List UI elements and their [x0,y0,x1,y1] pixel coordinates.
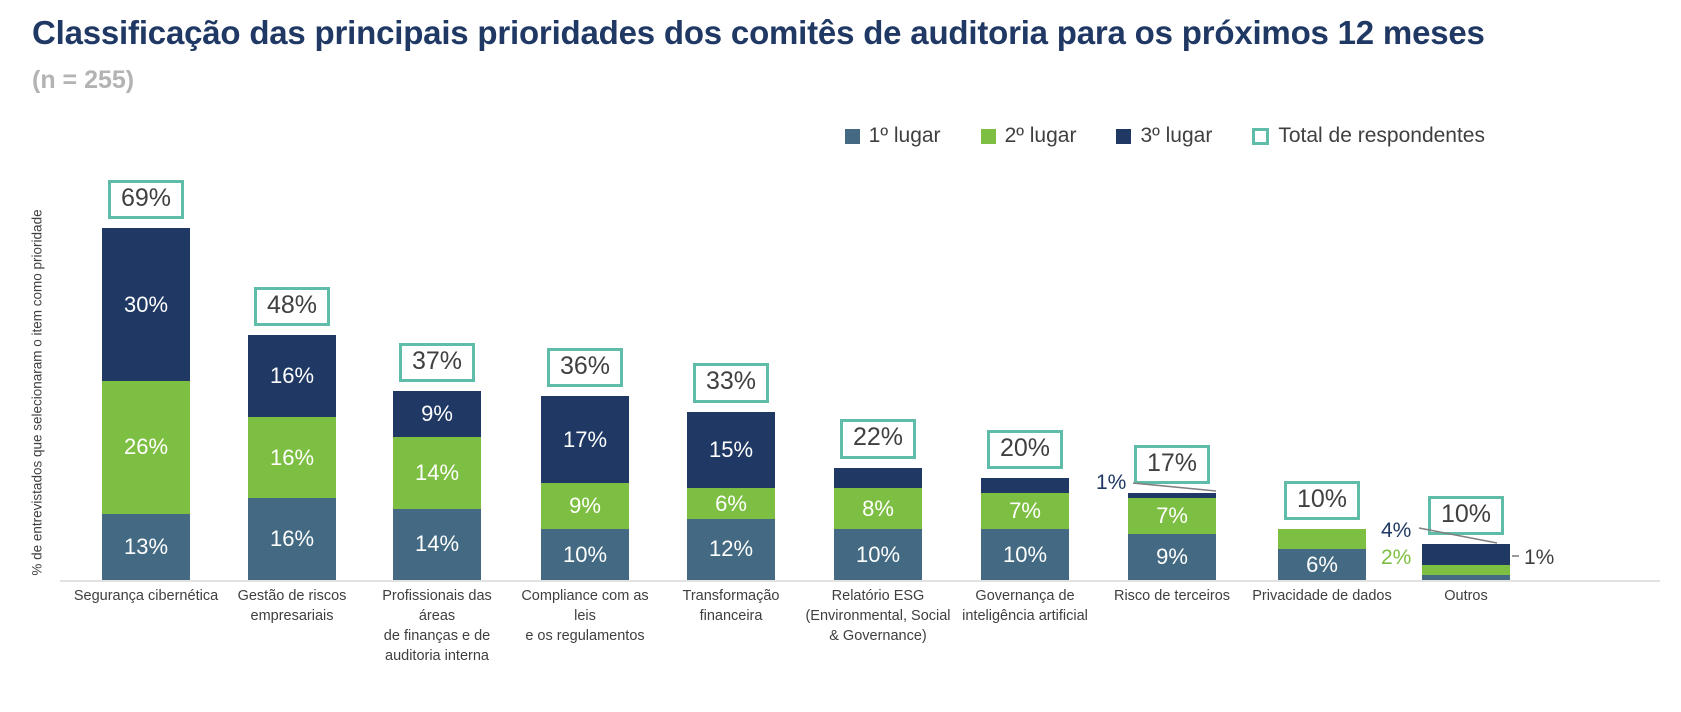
bar-segment-second-place[interactable]: 26% [102,381,190,514]
legend-swatch-third-place [1116,129,1131,144]
legend-item-second-place[interactable]: 2º lugar [981,124,1077,148]
bar-segment-second-place[interactable]: 16% [248,417,336,499]
bar-segment-third-place[interactable]: 30% [102,228,190,381]
bar-segment-first-place[interactable]: 13% [102,514,190,580]
legend-swatch-total-respondents [1252,128,1269,145]
total-respondents-label: 69% [108,180,184,220]
total-respondents-label: 33% [693,363,769,403]
total-respondents-label: 10% [1428,496,1504,536]
bar-segment-first-place[interactable]: 10% [541,529,629,580]
total-respondents-label: 37% [399,343,475,383]
stacked-bar[interactable]: 7%9% [1128,493,1216,580]
bar-segment-first-place[interactable]: 12% [687,519,775,580]
bar-segment-second-place[interactable] [1278,529,1366,549]
x-axis-category-label: Risco de terceiros [1099,586,1245,606]
legend-swatch-second-place [981,129,996,144]
bar-segment-third-place[interactable]: 15% [687,412,775,489]
legend-item-third-place[interactable]: 3º lugar [1116,124,1212,148]
bar-column[interactable]: 36%17%9%10% [541,150,629,580]
bar-column[interactable]: 17%7%9% [1128,150,1216,580]
bar-segment-second-place[interactable]: 14% [393,437,481,508]
legend-label-third-place: 3º lugar [1140,124,1212,148]
x-axis-category-label: Transformaçãofinanceira [658,586,804,626]
total-respondents-label: 22% [840,419,916,459]
x-axis-category-label: Relatório ESG(Environmental, Social& Gov… [805,586,951,646]
bar-segment-third-place[interactable] [1422,544,1510,564]
y-axis-label: % de entrevistados que selecionaram o it… [30,158,45,628]
bar-segment-first-place[interactable]: 6% [1278,549,1366,580]
stacked-bar[interactable]: 8%10% [834,468,922,580]
legend-label-first-place: 1º lugar [869,124,941,148]
bar-column[interactable]: 48%16%16%16% [248,150,336,580]
total-respondents-label: 17% [1134,445,1210,485]
total-respondents-label: 48% [254,287,330,327]
stacked-bar[interactable]: 9%14%14% [393,391,481,580]
bar-segment-third-place[interactable] [834,468,922,488]
x-axis-category-label: Profissionais das áreasde finanças e dea… [364,586,510,666]
x-axis-baseline [60,580,1660,582]
stacked-bar[interactable]: 30%26%13% [102,228,190,580]
stacked-bar[interactable] [1422,544,1510,580]
bar-segment-second-place[interactable]: 7% [1128,498,1216,534]
stacked-bar[interactable]: 6% [1278,529,1366,580]
stacked-bar[interactable]: 15%6%12% [687,412,775,580]
bar-segment-second-place[interactable]: 8% [834,488,922,529]
bar-column[interactable]: 37%9%14%14% [393,150,481,580]
x-axis-category-label: Compliance com as leise os regulamentos [512,586,658,646]
legend-label-second-place: 2º lugar [1005,124,1077,148]
bar-segment-second-place[interactable]: 6% [687,488,775,519]
x-axis-category-label: Outros [1393,586,1539,606]
bar-segment-first-place[interactable]: 14% [393,509,481,580]
bar-segment-third-place[interactable] [981,478,1069,493]
callout-second-place-outros: 2% [1381,546,1411,570]
bar-segment-third-place[interactable]: 9% [393,391,481,437]
x-axis-category-label: Gestão de riscosempresariais [219,586,365,626]
x-axis-category-label: Segurança cibernética [73,586,219,606]
plot-area: 69%30%26%13%48%16%16%16%37%9%14%14%36%17… [60,150,1660,580]
bar-segment-first-place[interactable]: 16% [248,498,336,580]
legend-item-first-place[interactable]: 1º lugar [845,124,941,148]
chart-subtitle: (n = 255) [32,66,134,95]
bar-segment-first-place[interactable]: 10% [834,529,922,580]
x-axis-category-label: Privacidade de dados [1249,586,1395,606]
page-title: Classificação das principais prioridades… [32,14,1485,52]
bar-segment-third-place[interactable]: 17% [541,396,629,483]
bar-segment-second-place[interactable]: 9% [541,483,629,529]
stacked-bar[interactable]: 7%10% [981,478,1069,580]
bar-segment-first-place[interactable]: 9% [1128,534,1216,580]
total-respondents-label: 36% [547,348,623,388]
callout-first-place-outros: 1% [1524,546,1554,570]
stacked-bar[interactable]: 16%16%16% [248,335,336,580]
bar-column[interactable]: 33%15%6%12% [687,150,775,580]
bar-column[interactable]: 22%8%10% [834,150,922,580]
callout-third-place-risco-terceiros: 1% [1096,471,1126,495]
total-respondents-label: 20% [987,430,1063,470]
chart-legend: 1º lugar 2º lugar 3º lugar Total de resp… [845,124,1485,148]
bar-segment-second-place[interactable] [1422,565,1510,575]
bar-column[interactable]: 69%30%26%13% [102,150,190,580]
x-axis-category-label: Governança deinteligência artificial [952,586,1098,626]
bar-column[interactable]: 10%6% [1278,150,1366,580]
stacked-bar[interactable]: 17%9%10% [541,396,629,580]
bar-column[interactable]: 20%7%10% [981,150,1069,580]
bar-segment-first-place[interactable]: 10% [981,529,1069,580]
legend-item-total-respondents[interactable]: Total de respondentes [1252,124,1485,148]
legend-swatch-first-place [845,129,860,144]
bar-segment-second-place[interactable]: 7% [981,493,1069,529]
callout-third-place-outros: 4% [1381,519,1411,543]
legend-label-total-respondents: Total de respondentes [1278,124,1485,148]
total-respondents-label: 10% [1284,481,1360,521]
bar-column[interactable]: 10% [1422,150,1510,580]
bar-segment-third-place[interactable]: 16% [248,335,336,417]
